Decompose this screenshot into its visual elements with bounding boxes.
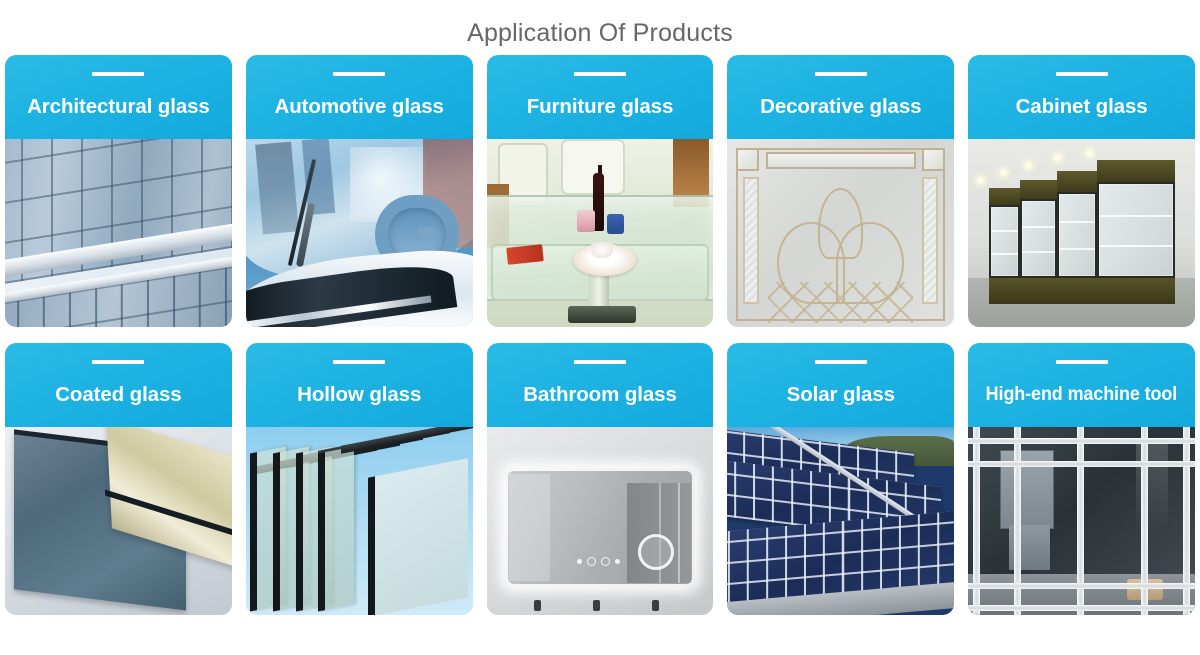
application-of-products-page: Application Of Products Architectural gl… — [0, 0, 1200, 655]
header-dash-divider — [333, 72, 385, 76]
page-title: Application Of Products — [0, 0, 1200, 55]
card-photo-cabinet-glass — [968, 139, 1195, 327]
card-photo-bathroom-glass — [487, 427, 714, 615]
card-photo-high-end-machine-tool — [968, 427, 1195, 615]
glass-dining-table-photo — [487, 139, 714, 327]
glass-display-cabinets-photo — [968, 139, 1195, 327]
card-header: Decorative glass — [727, 55, 954, 139]
card-header: Solar glass — [727, 343, 954, 427]
card-photo-coated-glass — [5, 427, 232, 615]
card-header: Architectural glass — [5, 55, 232, 139]
header-dash-divider — [574, 360, 626, 364]
mirror-magnifier-ring — [638, 534, 674, 570]
card-header: Bathroom glass — [487, 343, 714, 427]
product-card-automotive-glass[interactable]: Automotive glass — [246, 55, 473, 327]
car-windshield-wiper-photo — [246, 139, 473, 327]
header-dash-divider — [333, 360, 385, 364]
product-card-coated-glass[interactable]: Coated glass — [5, 343, 232, 615]
card-label: Hollow glass — [246, 383, 473, 407]
card-header: Cabinet glass — [968, 55, 1195, 139]
coated-glass-sheets-photo — [5, 427, 232, 615]
header-dash-divider — [92, 360, 144, 364]
card-label: Bathroom glass — [487, 383, 714, 407]
mirror-touch-controls — [577, 557, 620, 566]
insulated-glass-units-stack-photo — [246, 427, 473, 615]
card-photo-automotive-glass — [246, 139, 473, 327]
product-application-grid: Architectural glass Automotive glass — [0, 55, 1200, 615]
header-dash-divider — [815, 72, 867, 76]
card-photo-decorative-glass — [727, 139, 954, 327]
led-backlit-bathroom-mirror-photo — [487, 427, 714, 615]
card-header: Automotive glass — [246, 55, 473, 139]
product-card-cabinet-glass[interactable]: Cabinet glass — [968, 55, 1195, 327]
card-label: Coated glass — [5, 383, 232, 407]
card-label: Cabinet glass — [968, 95, 1195, 119]
header-dash-divider — [815, 360, 867, 364]
card-header: Coated glass — [5, 343, 232, 427]
bevelled-leaded-glass-panel-photo — [727, 139, 954, 327]
product-card-high-end-machine-tool[interactable]: High-end machine tool — [968, 343, 1195, 615]
card-label: Automotive glass — [246, 95, 473, 119]
solar-panel-array-photo — [727, 427, 954, 615]
header-dash-divider — [1056, 72, 1108, 76]
card-label: Decorative glass — [727, 95, 954, 119]
card-photo-architectural-glass — [5, 139, 232, 327]
product-card-architectural-glass[interactable]: Architectural glass — [5, 55, 232, 327]
card-label: High-end machine tool — [977, 383, 1186, 406]
card-photo-hollow-glass — [246, 427, 473, 615]
card-label: Furniture glass — [487, 95, 714, 119]
product-card-decorative-glass[interactable]: Decorative glass — [727, 55, 954, 327]
glass-curtain-wall-building-photo — [5, 139, 232, 327]
product-card-furniture-glass[interactable]: Furniture glass — [487, 55, 714, 327]
product-card-solar-glass[interactable]: Solar glass — [727, 343, 954, 615]
card-header: High-end machine tool — [968, 343, 1195, 427]
card-label: Solar glass — [727, 383, 954, 407]
card-label: Architectural glass — [5, 95, 232, 119]
product-card-hollow-glass[interactable]: Hollow glass — [246, 343, 473, 615]
card-photo-furniture-glass — [487, 139, 714, 327]
machine-enclosure-glass-photo — [968, 427, 1195, 615]
header-dash-divider — [1056, 360, 1108, 364]
card-header: Furniture glass — [487, 55, 714, 139]
product-card-bathroom-glass[interactable]: Bathroom glass — [487, 343, 714, 615]
header-dash-divider — [92, 72, 144, 76]
card-header: Hollow glass — [246, 343, 473, 427]
header-dash-divider — [574, 72, 626, 76]
card-photo-solar-glass — [727, 427, 954, 615]
